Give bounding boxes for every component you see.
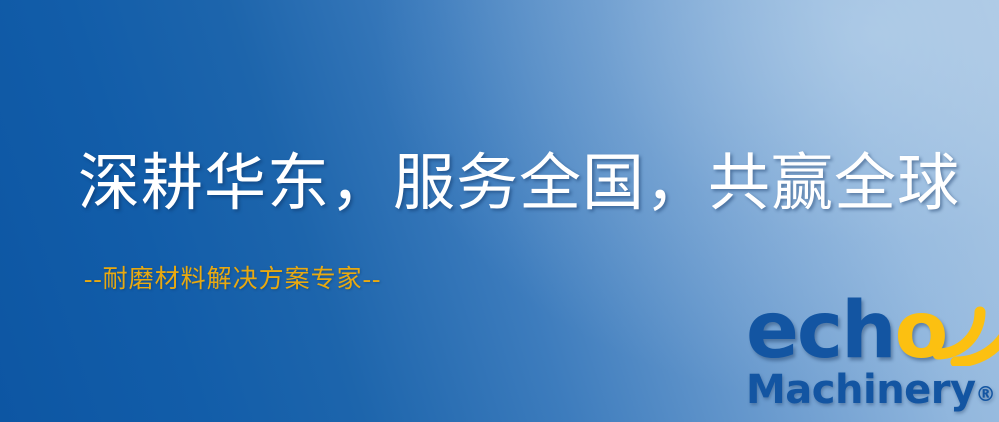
banner-headline: 深耕华东，服务全国，共赢全球 [78,152,960,217]
promo-banner: 深耕华东，服务全国，共赢全球 --耐磨材料解决方案专家-- echo Machi… [0,0,999,422]
logo-echo-text: echo [746,292,946,370]
signal-waves-icon [928,292,999,366]
logo-echo-prefix: ech [746,286,895,376]
logo-tagline-text: Machinery [746,367,976,413]
banner-subtitle: --耐磨材料解决方案专家-- [84,266,381,294]
registered-trademark-icon: ® [976,382,996,406]
echo-machinery-logo[interactable]: echo Machinery® [742,296,999,422]
logo-tagline: Machinery® [746,370,996,410]
